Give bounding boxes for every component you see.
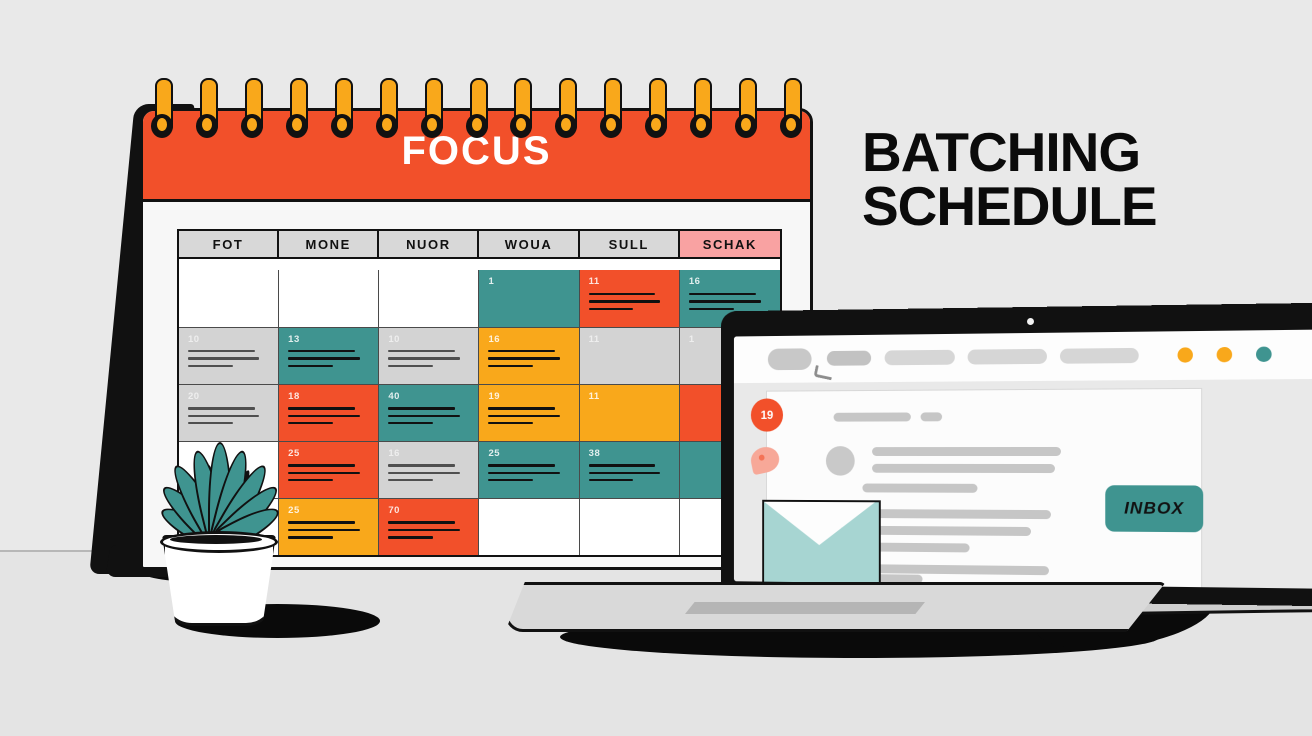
list-bar bbox=[862, 484, 977, 493]
calendar-event-lines bbox=[188, 407, 269, 424]
calendar-event-lines bbox=[288, 407, 369, 424]
calendar-event-lines bbox=[288, 350, 369, 367]
toolbar-pill-2[interactable] bbox=[885, 350, 955, 366]
calendar-day-number: 40 bbox=[388, 392, 469, 402]
calendar-day-number: 16 bbox=[689, 277, 771, 287]
calendar-day-number: 10 bbox=[388, 335, 469, 345]
event-line bbox=[288, 479, 333, 481]
calendar-day-number: 1 bbox=[488, 277, 569, 287]
event-line bbox=[188, 422, 233, 424]
toolbar-pill-4[interactable] bbox=[1060, 348, 1139, 364]
back-arrow-glyph bbox=[813, 365, 833, 380]
calendar-cell[interactable]: 13 bbox=[279, 328, 379, 385]
calendar-cell[interactable]: 10 bbox=[379, 328, 479, 385]
calendar-cell[interactable]: 70 bbox=[379, 499, 479, 555]
event-line bbox=[388, 479, 433, 481]
title-line-1: BATCHING bbox=[862, 126, 1262, 180]
list-bar bbox=[834, 412, 911, 421]
webcam-icon bbox=[1027, 318, 1034, 325]
calendar-event-lines bbox=[388, 464, 469, 481]
day-header-schak: SCHAK bbox=[680, 231, 780, 259]
page-title: BATCHING SCHEDULE bbox=[862, 126, 1262, 234]
toolbar-pill-1[interactable] bbox=[827, 351, 871, 366]
laptop-trackpad bbox=[685, 602, 925, 614]
calendar-day-number: 70 bbox=[388, 506, 469, 516]
event-line bbox=[388, 536, 433, 538]
inbox-badge[interactable]: INBOX bbox=[1105, 485, 1203, 532]
list-bar bbox=[862, 509, 1051, 519]
event-line bbox=[288, 422, 333, 424]
potted-plant bbox=[140, 425, 290, 620]
event-line bbox=[188, 350, 255, 352]
day-header-nuor: NUOR bbox=[379, 231, 479, 259]
calendar-event-lines bbox=[388, 350, 469, 367]
calendar-cell[interactable] bbox=[279, 270, 379, 327]
calendar-cell[interactable]: 16 bbox=[379, 442, 479, 499]
laptop: 19 INBOX bbox=[505, 300, 1165, 640]
calendar-event-lines bbox=[388, 407, 469, 424]
day-header-sull: SULL bbox=[580, 231, 680, 259]
event-line bbox=[288, 521, 355, 523]
event-line bbox=[388, 365, 433, 367]
title-line-2: SCHEDULE bbox=[862, 180, 1262, 234]
calendar-day-number: 10 bbox=[188, 335, 269, 345]
calendar-cell[interactable]: 25 bbox=[279, 442, 379, 499]
envelope-flap bbox=[764, 502, 875, 546]
event-line bbox=[388, 415, 459, 417]
event-line bbox=[188, 365, 233, 367]
event-line bbox=[288, 415, 359, 417]
event-line bbox=[288, 464, 355, 466]
event-line bbox=[288, 472, 359, 474]
calendar-event-lines bbox=[188, 350, 269, 367]
browser-toolbar bbox=[734, 329, 1312, 383]
list-bar bbox=[872, 447, 1061, 456]
calendar-header-band: FOCUS bbox=[143, 111, 810, 202]
calendar-day-number: 16 bbox=[388, 449, 469, 459]
toolbar-dot-2[interactable] bbox=[1217, 347, 1233, 362]
calendar-event-lines bbox=[288, 521, 369, 538]
day-header-woua: WOUA bbox=[479, 231, 579, 259]
laptop-lid: 19 INBOX bbox=[721, 302, 1312, 606]
notification-badge[interactable]: 19 bbox=[751, 398, 783, 431]
list-bar bbox=[872, 464, 1055, 473]
event-line bbox=[288, 357, 359, 359]
event-line bbox=[288, 529, 359, 531]
browser-content: 19 INBOX bbox=[734, 379, 1312, 589]
event-line bbox=[288, 407, 355, 409]
event-line bbox=[388, 357, 459, 359]
event-line bbox=[388, 407, 455, 409]
event-line bbox=[288, 350, 355, 352]
event-line bbox=[388, 529, 459, 531]
calendar-cell[interactable]: 18 bbox=[279, 385, 379, 442]
event-line bbox=[388, 422, 433, 424]
calendar-cell[interactable] bbox=[379, 270, 479, 327]
avatar bbox=[826, 446, 855, 475]
calendar-cell[interactable]: 40 bbox=[379, 385, 479, 442]
calendar-cell[interactable]: 10 bbox=[179, 328, 279, 385]
calendar-event-lines bbox=[288, 464, 369, 481]
list-bar bbox=[862, 526, 1031, 536]
toolbar-pill-3[interactable] bbox=[968, 349, 1047, 365]
calendar-day-number: 25 bbox=[288, 506, 369, 516]
calendar-day-number: 13 bbox=[288, 335, 369, 345]
event-line bbox=[689, 293, 756, 295]
event-line bbox=[288, 536, 333, 538]
toolbar-dot-1[interactable] bbox=[1178, 347, 1193, 362]
event-line bbox=[388, 464, 455, 466]
calendar-cell[interactable] bbox=[179, 270, 279, 327]
calendar-event-lines bbox=[388, 521, 469, 538]
day-header-mone: MONE bbox=[279, 231, 379, 259]
calendar-title: FOCUS bbox=[143, 129, 810, 174]
calendar-day-number: 18 bbox=[288, 392, 369, 402]
event-line bbox=[188, 407, 255, 409]
toolbar-dot-3[interactable] bbox=[1256, 347, 1272, 362]
event-line bbox=[188, 357, 259, 359]
list-bar bbox=[921, 412, 942, 421]
event-line bbox=[388, 350, 455, 352]
event-line bbox=[388, 521, 455, 523]
calendar-day-number: 25 bbox=[288, 449, 369, 459]
envelope-icon bbox=[762, 500, 881, 589]
calendar-day-number: 11 bbox=[589, 277, 670, 287]
back-arrow-icon[interactable] bbox=[768, 348, 812, 370]
calendar-day-number: 20 bbox=[188, 392, 269, 402]
plant-soil bbox=[170, 535, 262, 544]
day-header-fot: FOT bbox=[179, 231, 279, 259]
laptop-screen: 19 INBOX bbox=[734, 329, 1312, 589]
event-line bbox=[388, 472, 459, 474]
illustration-canvas: FOCUS FOTMONENUORWOUASULLSCHAK1111610131… bbox=[0, 0, 1312, 736]
event-line bbox=[288, 365, 333, 367]
event-line bbox=[188, 415, 259, 417]
event-line bbox=[589, 293, 656, 295]
calendar-cell[interactable]: 25 bbox=[279, 499, 379, 555]
